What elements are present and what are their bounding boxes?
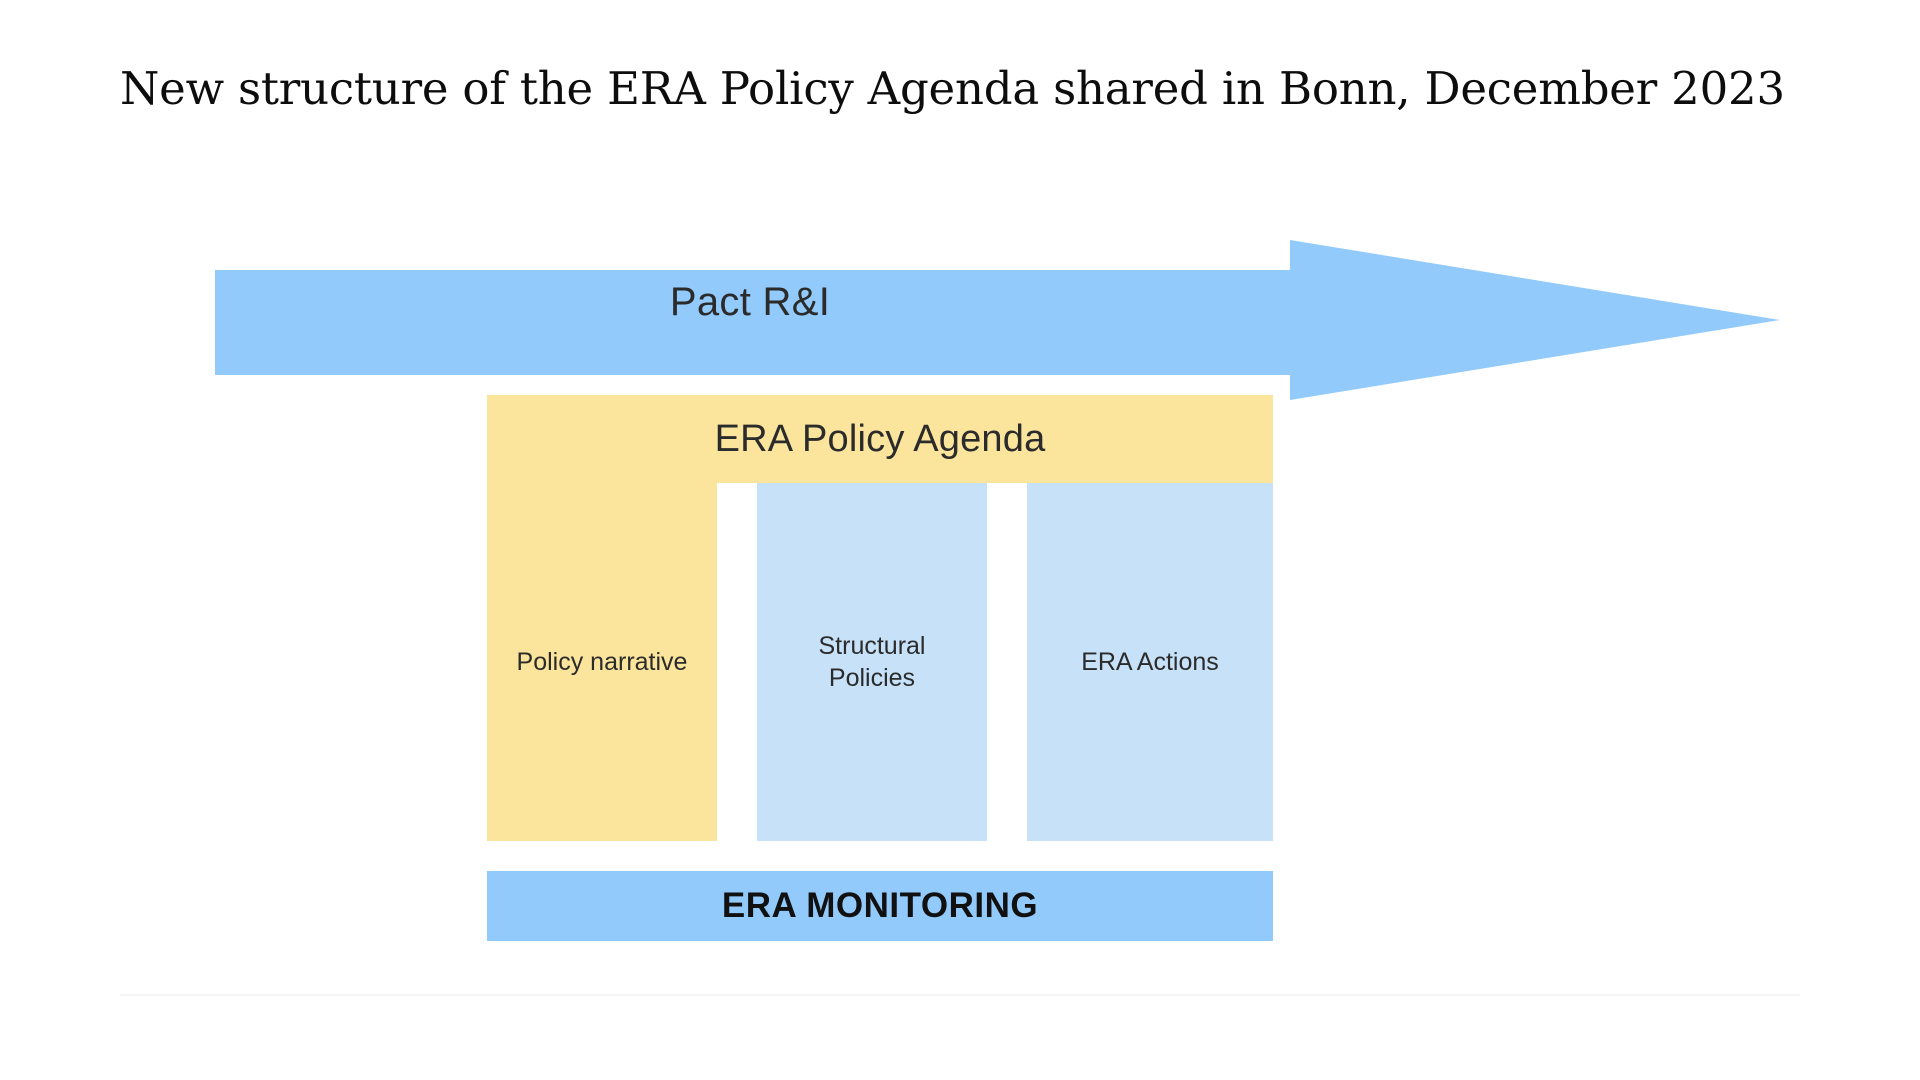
pillar-policy-narrative-label: Policy narrative	[517, 646, 688, 678]
pillar-structural-policies: Structural Policies	[757, 483, 987, 841]
pillar-structural-policies-line2: Policies	[829, 664, 915, 692]
pillar-policy-narrative: Policy narrative	[487, 483, 717, 841]
page-title: New structure of the ERA Policy Agenda s…	[120, 62, 1820, 115]
era-policy-agenda-header: ERA Policy Agenda	[487, 395, 1273, 483]
slide-canvas: New structure of the ERA Policy Agenda s…	[0, 0, 1920, 1080]
pillar-structural-policies-line1: Structural	[819, 632, 926, 660]
pillar-era-actions-label: ERA Actions	[1081, 646, 1219, 678]
era-policy-agenda-title: ERA Policy Agenda	[715, 418, 1046, 461]
pact-ri-arrow: Pact R&I	[210, 230, 1785, 410]
era-monitoring-bar: ERA MONITORING	[487, 871, 1273, 941]
pact-ri-label: Pact R&I	[210, 230, 1290, 375]
era-monitoring-label: ERA MONITORING	[722, 886, 1038, 926]
footer-divider	[120, 994, 1800, 996]
era-policy-agenda-block: ERA Policy Agenda Policy narrative Struc…	[487, 395, 1273, 841]
pillar-era-actions: ERA Actions	[1027, 483, 1273, 841]
era-policy-agenda-pillars: Policy narrative Structural Policies ERA…	[487, 483, 1273, 841]
pillar-structural-policies-label: Structural Policies	[819, 630, 926, 694]
